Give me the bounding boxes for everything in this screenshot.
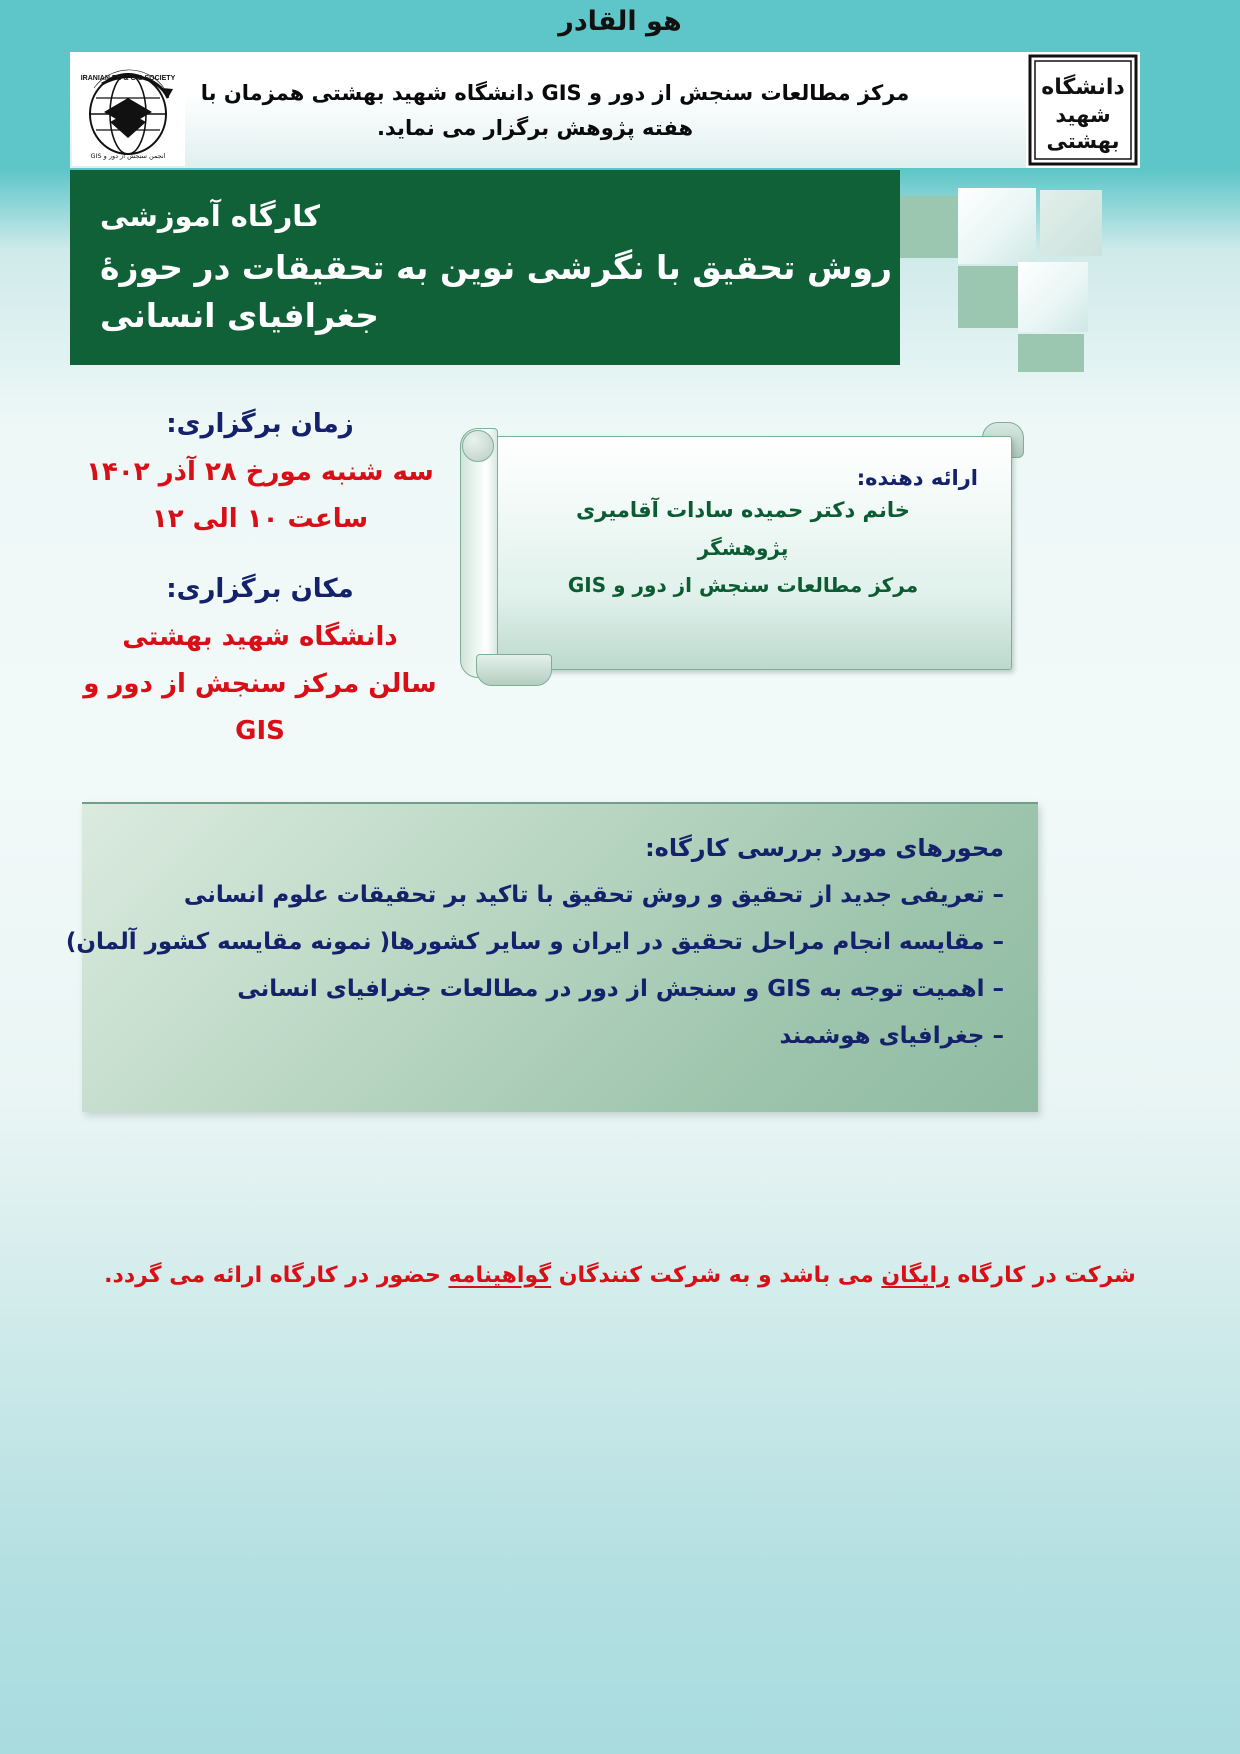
decor-square-1 xyxy=(900,196,958,258)
svg-text:دانشگاه: دانشگاه xyxy=(1041,73,1125,100)
scroll-knob-icon xyxy=(462,430,494,462)
header-line-2: هفته پژوهش برگزار می نماید. xyxy=(190,111,920,146)
venue-line-2: سالن مرکز سنجش از دور و GIS xyxy=(60,661,460,755)
decor-square-3 xyxy=(1040,190,1102,256)
footer-note: شرکت در کارگاه رایگان می باشد و به شرکت … xyxy=(60,1258,1180,1293)
presenter-scroll: ارائه دهنده: خانم دکتر حمیده سادات آقامی… xyxy=(452,418,1024,686)
svg-text:بهشتی: بهشتی xyxy=(1047,129,1120,153)
scroll-roll-bottom-left xyxy=(476,654,552,686)
svg-text:انجمن سنجش از دور و GIS: انجمن سنجش از دور و GIS xyxy=(90,152,165,160)
event-time: ساعت ۱۰ الی ۱۲ xyxy=(60,496,460,543)
schedule-block: زمان برگزاری: سه شنبه مورخ ۲۸ آذر ۱۴۰۲ س… xyxy=(60,400,460,755)
presenter-info: ارائه دهنده: خانم دکتر حمیده سادات آقامی… xyxy=(504,466,982,604)
workshop-title-line-2: جغرافیای انسانی xyxy=(100,292,379,340)
footer-free-word: رایگان xyxy=(881,1263,949,1288)
svg-text:IRANIAN RS & GIS SOCIETY: IRANIAN RS & GIS SOCIETY xyxy=(81,75,176,82)
topic-item: – تعریفی جدید از تحقیق و روش تحقیق با تا… xyxy=(116,872,1004,919)
presenter-name: خانم دکتر حمیده سادات آقامیری xyxy=(504,491,982,530)
place-label: مکان برگزاری: xyxy=(60,565,460,614)
footer-part-2: می باشد و به شرکت کنندگان xyxy=(551,1263,881,1288)
footer-part-1: شرکت در کارگاه xyxy=(950,1263,1136,1288)
decor-square-5 xyxy=(1018,262,1088,332)
topic-item: – مقایسه انجام مراحل تحقیق در ایران و سا… xyxy=(116,919,1004,966)
workshop-title-line-1: روش تحقیق با نگرشی نوین به تحقیقات در حو… xyxy=(100,244,892,292)
decor-square-2 xyxy=(958,188,1036,264)
schedule-spacer xyxy=(60,543,460,565)
header-line-1: مرکز مطالعات سنجش از دور و GIS دانشگاه ش… xyxy=(190,76,920,111)
shahid-beheshti-university-logo: دانشگاه شهید بهشتی xyxy=(1026,52,1140,168)
decor-square-4 xyxy=(958,266,1020,328)
scroll-roll-left xyxy=(460,428,498,678)
footer-part-3: حضور در کارگاه ارائه می گردد. xyxy=(104,1263,448,1288)
presenter-role: پژوهشگر xyxy=(504,530,982,567)
event-date: سه شنبه مورخ ۲۸ آذر ۱۴۰۲ xyxy=(60,449,460,496)
invocation-text: هو القادر xyxy=(0,6,1240,37)
presenter-label: ارائه دهنده: xyxy=(504,466,982,491)
venue-line-1: دانشگاه شهید بهشتی xyxy=(60,614,460,661)
iranian-rs-gis-society-logo: IRANIAN RS & GIS SOCIETY انجمن سنجش از د… xyxy=(72,54,185,166)
time-label: زمان برگزاری: xyxy=(60,400,460,449)
topics-heading: محورهای مورد بررسی کارگاه: xyxy=(116,826,1004,872)
presenter-organization: مرکز مطالعات سنجش از دور و GIS xyxy=(504,567,982,604)
decor-square-6 xyxy=(1018,334,1084,372)
workshop-kicker: کارگاه آموزشی xyxy=(100,197,320,236)
svg-text:شهید: شهید xyxy=(1055,103,1110,127)
header-announcement: مرکز مطالعات سنجش از دور و GIS دانشگاه ش… xyxy=(190,56,920,166)
topic-item: – اهمیت توجه به GIS و سنجش از دور در مطا… xyxy=(116,966,1004,1013)
topics-box: محورهای مورد بررسی کارگاه: – تعریفی جدید… xyxy=(82,802,1038,1112)
workshop-title-group: کارگاه آموزشی روش تحقیق با نگرشی نوین به… xyxy=(100,172,870,364)
topic-item: – جغرافیای هوشمند xyxy=(116,1013,1004,1060)
footer-certificate-word: گواهینامه xyxy=(448,1263,551,1288)
